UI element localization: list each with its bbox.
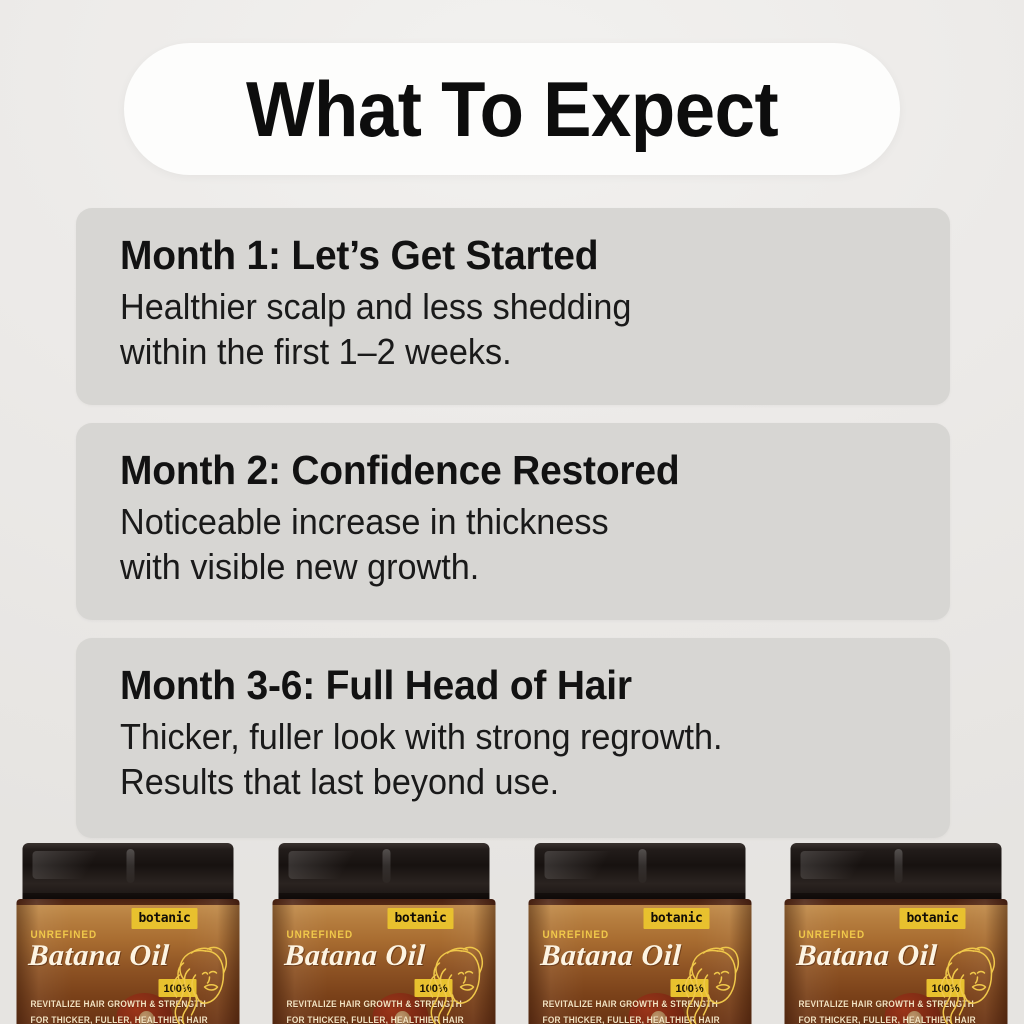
- page-title: What To Expect: [246, 70, 778, 148]
- card-title: Month 1: Let’s Get Started: [120, 234, 909, 277]
- product-jar-row: botanic UNREFINED Batana Oil 100% REVITA…: [0, 843, 1024, 1024]
- product-name: Batana Oil: [540, 941, 682, 971]
- product-jar[interactable]: botanic UNREFINED Batana Oil 100% REVITA…: [256, 843, 512, 1024]
- card-body-line-1: Noticeable increase in thickness: [120, 499, 909, 544]
- jar-lid: [535, 843, 746, 899]
- jar-label: botanic UNREFINED Batana Oil 100% REVITA…: [273, 905, 496, 1024]
- product-name: Batana Oil: [284, 941, 426, 971]
- jar-lid: [23, 843, 234, 899]
- jar-label: botanic UNREFINED Batana Oil 100% REVITA…: [785, 905, 1008, 1024]
- product-name: Batana Oil: [796, 941, 938, 971]
- card-title: Month 3-6: Full Head of Hair: [120, 664, 909, 707]
- card-body-line-2: within the first 1–2 weeks.: [120, 329, 909, 374]
- product-jar[interactable]: botanic UNREFINED Batana Oil 100% REVITA…: [768, 843, 1024, 1024]
- card-body-line-2: Results that last beyond use.: [120, 759, 909, 804]
- jar-lid: [791, 843, 1002, 899]
- card-title: Month 2: Confidence Restored: [120, 449, 909, 492]
- card-body-line-1: Healthier scalp and less shedding: [120, 284, 909, 329]
- jar-lid: [279, 843, 490, 899]
- expectation-card-month-3-6: Month 3-6: Full Head of Hair Thicker, fu…: [76, 638, 950, 838]
- brand-name: botanic: [907, 911, 959, 926]
- card-body-line-2: with visible new growth.: [120, 544, 909, 589]
- jar-label: botanic UNREFINED Batana Oil 100% REVITA…: [17, 905, 240, 1024]
- brand-badge: botanic: [388, 908, 454, 929]
- brand-name: botanic: [651, 911, 703, 926]
- woman-hair-illustration-icon: [162, 929, 234, 1024]
- product-jar[interactable]: botanic UNREFINED Batana Oil 100% REVITA…: [512, 843, 768, 1024]
- card-body-line-1: Thicker, fuller look with strong regrowt…: [120, 714, 909, 759]
- product-name: Batana Oil: [28, 941, 170, 971]
- brand-name: botanic: [395, 911, 447, 926]
- brand-name: botanic: [139, 911, 191, 926]
- woman-hair-illustration-icon: [674, 929, 746, 1024]
- page-title-pill: What To Expect: [124, 43, 900, 175]
- expectation-card-month-1: Month 1: Let’s Get Started Healthier sca…: [76, 208, 950, 405]
- woman-hair-illustration-icon: [930, 929, 1002, 1024]
- product-jar[interactable]: botanic UNREFINED Batana Oil 100% REVITA…: [0, 843, 256, 1024]
- expectation-card-month-2: Month 2: Confidence Restored Noticeable …: [76, 423, 950, 620]
- woman-hair-illustration-icon: [418, 929, 490, 1024]
- brand-badge: botanic: [900, 908, 966, 929]
- jar-label: botanic UNREFINED Batana Oil 100% REVITA…: [529, 905, 752, 1024]
- brand-badge: botanic: [644, 908, 710, 929]
- brand-badge: botanic: [132, 908, 198, 929]
